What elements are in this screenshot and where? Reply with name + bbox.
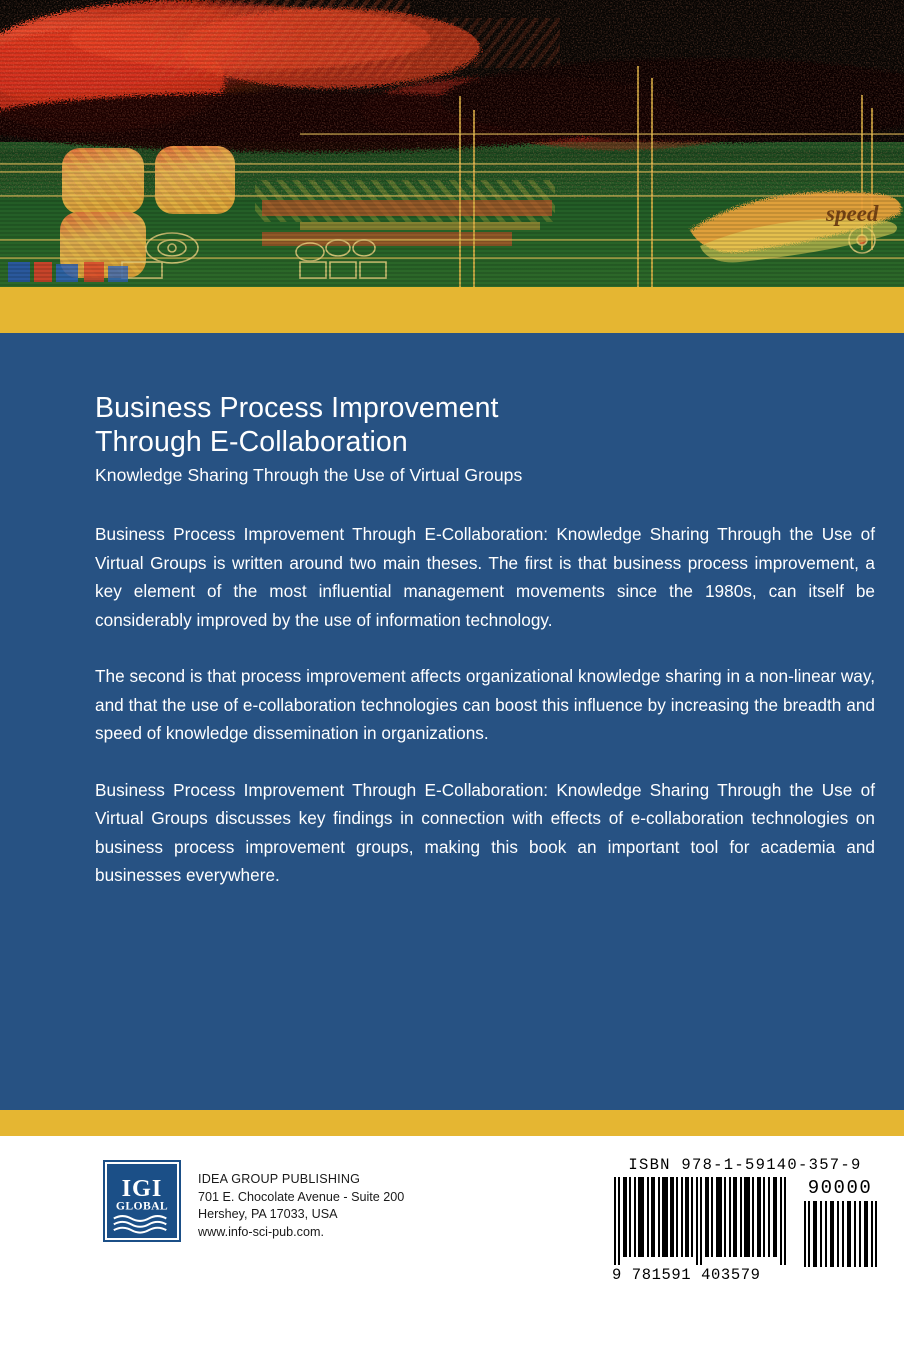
blurb-paragraph-3: Business Process Improvement Through E-C…	[95, 776, 875, 890]
igi-logo-graphic: IGI GLOBAL	[107, 1164, 177, 1238]
artwork-graphic: speed	[0, 0, 904, 287]
cover-text-content: Business Process Improvement Through E-C…	[95, 391, 875, 890]
book-subtitle: Knowledge Sharing Through the Use of Vir…	[95, 464, 875, 487]
addon-group: 90000	[802, 1177, 878, 1267]
igi-logo-secondary-text: GLOBAL	[116, 1200, 168, 1213]
isbn-text: ISBN 978-1-59140-357-9	[612, 1156, 878, 1174]
title-line-1: Business Process Improvement	[95, 391, 875, 425]
publisher-details: IDEA GROUP PUBLISHING 701 E. Chocolate A…	[198, 1160, 404, 1241]
blurb-paragraph-1: Business Process Improvement Through E-C…	[95, 520, 875, 634]
artwork-scanlines	[0, 0, 904, 287]
page-title: Business Process Improvement Through E-C…	[95, 391, 875, 459]
ean13-digits: 9 781591 403579	[612, 1266, 790, 1284]
igi-global-logo: IGI GLOBAL	[103, 1160, 181, 1242]
publisher-address-line-1: 701 E. Chocolate Avenue - Suite 200	[198, 1189, 404, 1207]
addon-digits: 90000	[802, 1177, 878, 1199]
publisher-address-line-2: Hershey, PA 17033, USA	[198, 1206, 404, 1224]
ean13-bars	[612, 1177, 790, 1265]
cover-footer: IGI GLOBAL IDEA GROUP PUBLISHING 701 E. …	[0, 1136, 904, 1360]
publisher-block: IGI GLOBAL IDEA GROUP PUBLISHING 701 E. …	[103, 1160, 404, 1242]
title-line-2: Through E-Collaboration	[95, 425, 875, 459]
publisher-website: www.info-sci-pub.com.	[198, 1224, 404, 1242]
cover-artwork: speed	[0, 0, 904, 287]
gold-divider-top	[0, 287, 904, 333]
publisher-name: IDEA GROUP PUBLISHING	[198, 1171, 404, 1189]
gold-divider-bottom	[0, 1110, 904, 1136]
barcode-bars-row: 9 781591 403579 90000	[612, 1177, 878, 1284]
blurb-paragraph-2: The second is that process improvement a…	[95, 662, 875, 748]
barcode-block: ISBN 978-1-59140-357-9	[612, 1156, 878, 1284]
ean13-group: 9 781591 403579	[612, 1177, 790, 1284]
addon-bars	[802, 1201, 878, 1267]
igi-logo-primary-text: IGI	[122, 1175, 163, 1202]
blue-content-panel: Business Process Improvement Through E-C…	[0, 333, 904, 1110]
